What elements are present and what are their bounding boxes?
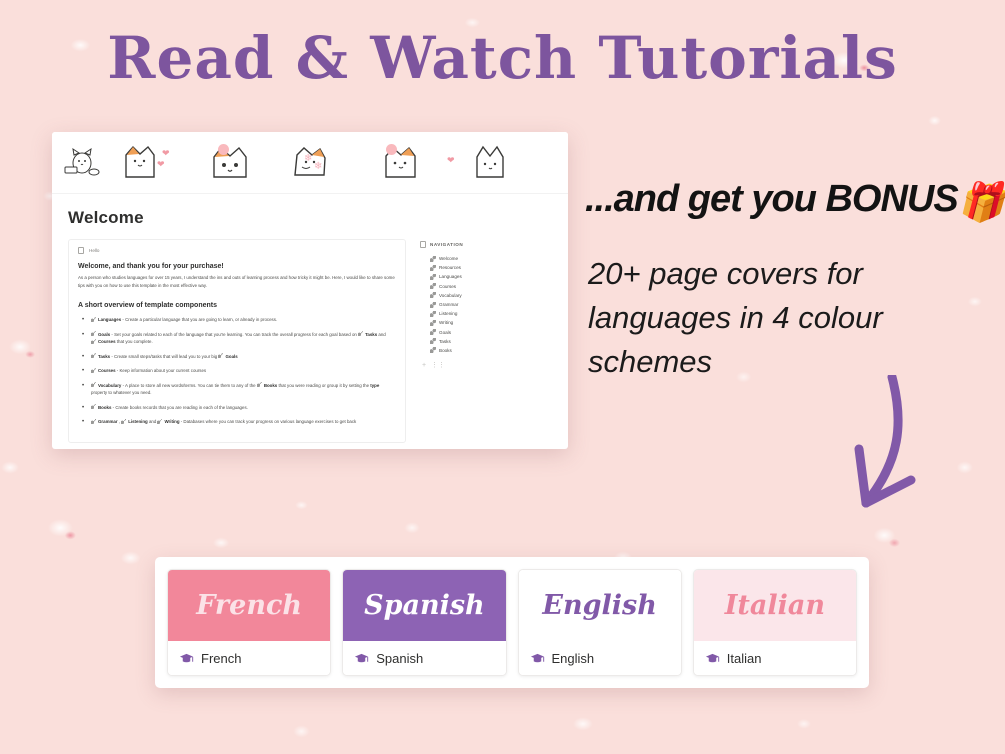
- callout-paragraph: As a person who studies languages for ov…: [78, 274, 396, 289]
- list-item: Grammar , Listening and Writing - Databa…: [78, 418, 396, 425]
- list-item: Courses - Keep information about your cu…: [78, 367, 396, 374]
- components-section-heading: A short overview of template components: [78, 302, 396, 309]
- info-icon: [78, 247, 84, 254]
- bonus-headline: ...and get you BONUS🎁: [585, 178, 1004, 225]
- cat-peeking-icon-1: [118, 141, 162, 185]
- navigation-footer: + ⋮⋮: [420, 361, 552, 369]
- covers-description: 20+ page covers for languages in 4 colou…: [588, 252, 888, 384]
- card-label: French: [201, 651, 241, 666]
- graduation-cap-icon: [354, 651, 369, 666]
- page-icon: [430, 265, 436, 271]
- decor-heart-icon-2: ❤: [157, 160, 165, 169]
- cover-art-english: English: [519, 570, 681, 641]
- callout-header: Hello: [78, 247, 396, 254]
- page-icon: [430, 338, 436, 344]
- page-icon: [430, 329, 436, 335]
- decor-paw-icon: ❄: [304, 154, 312, 164]
- sidebar-item-books[interactable]: Books: [430, 346, 552, 355]
- card-label: Spanish: [376, 651, 423, 666]
- card-footer: Italian: [694, 641, 856, 675]
- list-item: Tasks - Create small steps/tasks that wi…: [78, 353, 396, 360]
- callout-heading: Welcome, and thank you for your purchase…: [78, 263, 396, 270]
- navigation-header: NAVIGATION: [420, 241, 552, 248]
- decor-heart-icon-3: ❤: [447, 156, 455, 165]
- page-title: Read & Watch Tutorials: [0, 24, 1005, 92]
- language-card-italian[interactable]: Italian Italian: [693, 569, 857, 676]
- cover-art-french: French: [168, 570, 330, 641]
- page-icon: [430, 283, 436, 289]
- cat-reading-icon: [60, 141, 104, 185]
- graduation-cap-icon: [705, 651, 720, 666]
- page-icon: [430, 347, 436, 353]
- page-icon: [430, 311, 436, 317]
- cat-illustration-row: ❤ ❤ ❄ ❄ ❤: [52, 132, 568, 193]
- page-icon: [430, 274, 436, 280]
- language-card-french[interactable]: French French: [167, 569, 331, 676]
- graduation-cap-icon: [530, 651, 545, 666]
- card-label: English: [552, 651, 595, 666]
- card-footer: English: [519, 641, 681, 675]
- sidebar-item-resources[interactable]: Resources: [430, 263, 552, 272]
- sidebar-item-courses[interactable]: Courses: [430, 282, 552, 291]
- sidebar-item-goals[interactable]: Goals: [430, 328, 552, 337]
- cover-art-italian: Italian: [694, 570, 856, 641]
- info-icon: [420, 241, 426, 248]
- document-cover-banner: ❤ ❤ ❄ ❄ ❤: [52, 132, 568, 194]
- card-footer: French: [168, 641, 330, 675]
- cat-face-icon: [208, 141, 252, 185]
- decor-dot-icon-2: [386, 144, 397, 155]
- sidebar-item-writing[interactable]: Writing: [430, 318, 552, 327]
- sidebar-item-vocabulary[interactable]: Vocabulary: [430, 291, 552, 300]
- cover-art-spanish: Spanish: [343, 570, 505, 641]
- sidebar-item-tasks[interactable]: Tasks: [430, 337, 552, 346]
- callout-label: Hello: [89, 248, 99, 253]
- page-icon: [430, 292, 436, 298]
- document-title: Welcome: [68, 208, 552, 228]
- sidebar-item-welcome[interactable]: Welcome: [430, 254, 552, 263]
- list-item: Vocabulary - A place to store all new wo…: [78, 382, 396, 397]
- drag-handle-icon[interactable]: ⋮⋮: [431, 361, 445, 369]
- navigation-list: Welcome Resources Languages Courses Voca…: [420, 254, 552, 355]
- curved-down-left-arrow-icon: [818, 375, 958, 520]
- card-footer: Spanish: [343, 641, 505, 675]
- navigation-title: NAVIGATION: [430, 242, 463, 247]
- welcome-callout-block[interactable]: Hello Welcome, and thank you for your pu…: [68, 239, 406, 443]
- bonus-text: ...and get you BONUS: [585, 178, 958, 220]
- page-icon: [430, 256, 436, 262]
- list-item: Goals - Set your goals related to each o…: [78, 331, 396, 346]
- document-preview-window[interactable]: ❤ ❤ ❄ ❄ ❤ Welcome Hello Welcome, and tha…: [52, 132, 568, 449]
- language-card-english[interactable]: English English: [518, 569, 682, 676]
- language-covers-gallery: French French Spanish Spanish English: [155, 557, 869, 688]
- cat-ears-up-icon: [468, 141, 512, 185]
- gift-icon: 🎁: [958, 182, 1004, 224]
- sidebar-item-grammar[interactable]: Grammar: [430, 300, 552, 309]
- decor-dot-icon: [218, 144, 229, 155]
- list-item: Books - Create books records that you ar…: [78, 404, 396, 411]
- sidebar-item-listening[interactable]: Listening: [430, 309, 552, 318]
- decor-paw-icon-2: ❄: [314, 162, 322, 172]
- decor-heart-icon: ❤: [162, 149, 170, 158]
- list-item: Languages - Create a particular language…: [78, 316, 396, 323]
- cat-waving-icon: [378, 141, 422, 185]
- card-label: Italian: [727, 651, 762, 666]
- components-bullet-list: Languages - Create a particular language…: [78, 316, 396, 425]
- page-icon: [430, 320, 436, 326]
- plus-icon[interactable]: +: [422, 362, 426, 369]
- language-card-spanish[interactable]: Spanish Spanish: [342, 569, 506, 676]
- sidebar-item-languages[interactable]: Languages: [430, 272, 552, 281]
- navigation-panel: NAVIGATION Welcome Resources Languages C…: [420, 239, 552, 369]
- page-icon: [430, 302, 436, 308]
- graduation-cap-icon: [179, 651, 194, 666]
